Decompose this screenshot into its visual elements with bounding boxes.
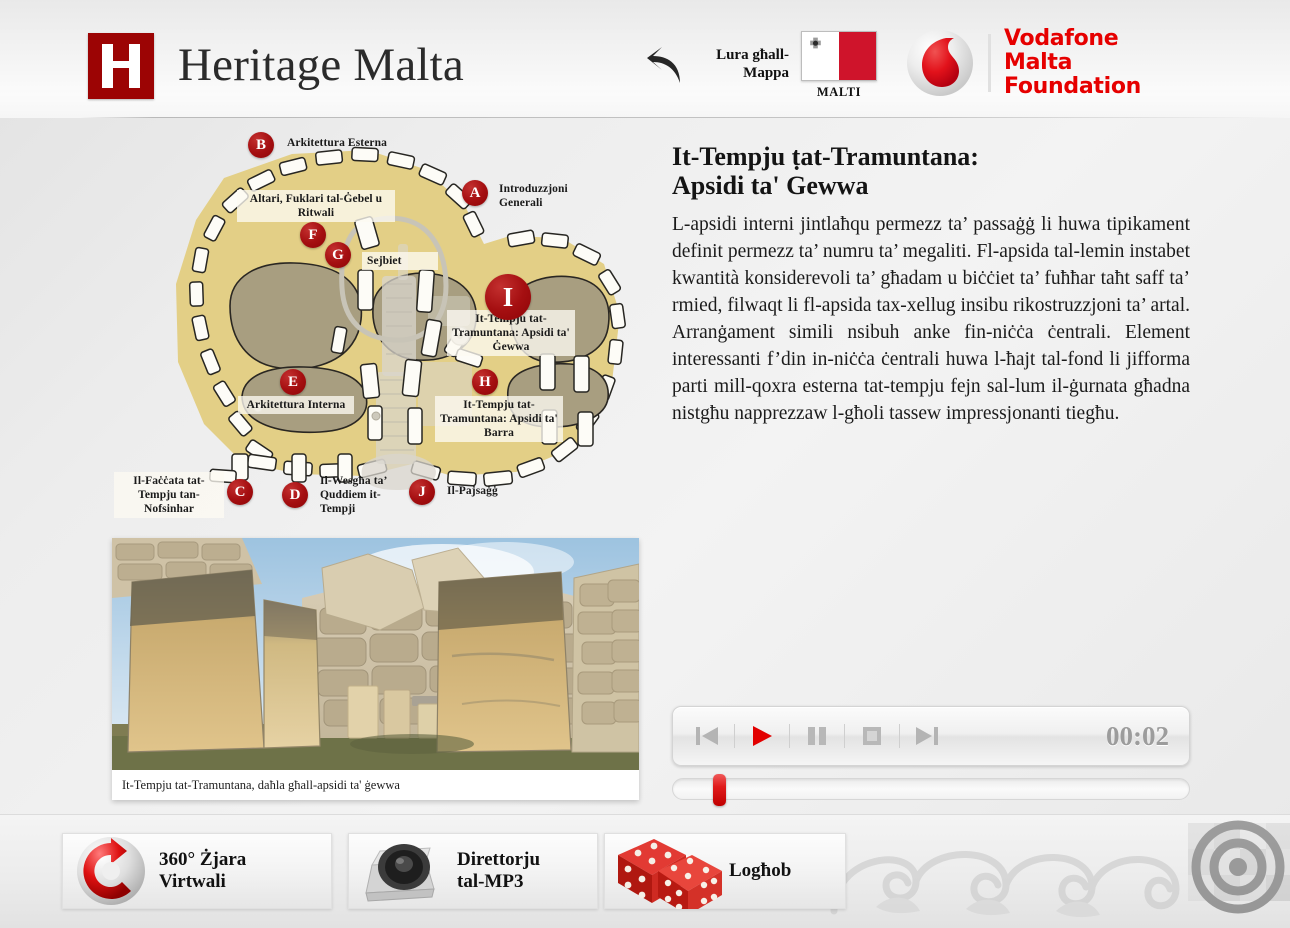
decorative-swirls	[820, 815, 1290, 928]
photo-caption: It-Tempju tat-Tramuntana, daħla għall-ap…	[112, 770, 639, 800]
map-label-f: Altari, Fuklari tal-Ġebel u Ritwali	[237, 190, 395, 222]
back-to-map-label: Lura għall-Mappa	[693, 47, 789, 82]
map-hotspot-c[interactable]: C	[227, 479, 253, 505]
vodafone-speechmark-icon	[905, 28, 975, 98]
play-icon	[751, 724, 773, 748]
games-label: Logħob	[729, 860, 791, 882]
virtual-tour-label-line-1: 360° Żjara	[159, 849, 246, 870]
map-label-e: Arkitettura Interna	[238, 396, 354, 414]
playback-time: 00:02	[1106, 721, 1175, 752]
stop-icon	[860, 724, 884, 748]
speaker-folder-icon	[349, 835, 457, 907]
megalithic-temple-photo	[112, 538, 639, 770]
sponsor-name: Vodafone Malta Foundation	[1004, 27, 1141, 100]
pause-icon	[805, 724, 829, 748]
map-label-h: It-Tempju tat-Tramuntana: Apsidi ta' Bar…	[435, 396, 563, 442]
seek-bar[interactable]	[672, 778, 1190, 800]
sponsor-line-3: Foundation	[1004, 74, 1141, 99]
mp3-directory-button[interactable]: Direttorju tal-MP3	[348, 833, 598, 909]
map-hotspot-e[interactable]: E	[280, 369, 306, 395]
map-hotspot-i[interactable]: I	[485, 274, 531, 320]
vodafone-malta-foundation-logo: Vodafone Malta Foundation	[905, 28, 1141, 98]
mp3-directory-label-line-1: Direttorju	[457, 849, 540, 870]
map-hotspot-d[interactable]: D	[282, 482, 308, 508]
article-title: It-Tempju ṭat-Tramuntana: Apsidi ta' Gew…	[672, 142, 1190, 200]
skip-forward-icon	[914, 724, 940, 748]
temple-plan-map[interactable]: .ochre{fill:#e3cf86;} .cham{fill:#a89e80…	[112, 124, 642, 524]
map-label-c: Il-Faċċata tat-Tempju tan-Nofsinhar	[114, 472, 224, 518]
article-title-line-2: Apsidi ta' Gewwa	[672, 171, 868, 200]
toolbar-divider-1	[734, 724, 735, 748]
mp3-directory-label-line-2: tal-MP3	[457, 871, 523, 892]
pause-button[interactable]	[797, 716, 837, 756]
language-label: MALTI	[801, 85, 877, 100]
article-title-line-1: It-Tempju ṭat-Tramuntana:	[672, 142, 979, 171]
map-hotspot-b[interactable]: B	[248, 132, 274, 158]
logo-h-glyph	[102, 44, 140, 88]
map-label-g: Sejbiet	[362, 252, 438, 270]
logo-divider	[988, 34, 991, 92]
article-body: L-apsidi interni jintlaħqu permezz ta’ p…	[672, 211, 1190, 427]
audio-player-toolbar: 00:02	[672, 706, 1190, 766]
stop-button[interactable]	[852, 716, 892, 756]
map-hotspot-h[interactable]: H	[472, 369, 498, 395]
photo-image	[112, 538, 639, 770]
virtual-tour-button[interactable]: 360° Żjara Virtwali	[62, 833, 332, 909]
mp3-directory-label: Direttorju tal-MP3	[457, 849, 540, 893]
map-hotspot-j[interactable]: J	[409, 479, 435, 505]
play-button[interactable]	[742, 716, 782, 756]
app-header: Heritage Malta Lura għall-Mappa MALTI	[0, 0, 1290, 118]
map-hotspot-a[interactable]: A	[462, 180, 488, 206]
map-label-j: Il-Pajsaġġ	[442, 482, 532, 500]
rotate-360-icon	[63, 835, 159, 907]
footer-bar: 360° Żjara Virtwali Direttorju tal-MP3	[0, 814, 1290, 928]
toolbar-divider-2	[789, 724, 790, 748]
map-label-a: Introduzzjoni Generali	[494, 180, 600, 212]
map-hotspot-g[interactable]: G	[325, 242, 351, 268]
skip-back-button[interactable]	[687, 716, 727, 756]
seek-thumb[interactable]	[713, 774, 726, 806]
sponsor-line-1: Vodafone	[1004, 26, 1118, 51]
dice-icon	[605, 833, 729, 909]
back-to-map-button[interactable]: Lura għall-Mappa	[645, 36, 795, 94]
toolbar-divider-3	[844, 724, 845, 748]
malta-flag-icon	[801, 31, 877, 81]
article-panel: It-Tempju ṭat-Tramuntana: Apsidi ta' Gew…	[672, 142, 1190, 427]
map-label-b: Arkitettura Esterna	[282, 134, 432, 152]
map-hotspot-f[interactable]: F	[300, 222, 326, 248]
page-title: Heritage Malta	[178, 38, 464, 92]
virtual-tour-label-line-2: Virtwali	[159, 871, 226, 892]
toolbar-divider-4	[899, 724, 900, 748]
games-button[interactable]: Logħob	[604, 833, 846, 909]
sponsor-line-2: Malta	[1004, 50, 1072, 75]
feature-photo: It-Tempju tat-Tramuntana, daħla għall-ap…	[112, 538, 639, 800]
skip-back-icon	[694, 724, 720, 748]
language-selector[interactable]: MALTI	[801, 31, 877, 100]
back-arrow-icon	[645, 43, 689, 87]
virtual-tour-label: 360° Żjara Virtwali	[159, 849, 246, 893]
heritage-malta-logo	[88, 33, 154, 99]
map-label-d: Il-Wesgħa ta’ Quddiem it-Tempji	[315, 472, 407, 518]
skip-forward-button[interactable]	[907, 716, 947, 756]
